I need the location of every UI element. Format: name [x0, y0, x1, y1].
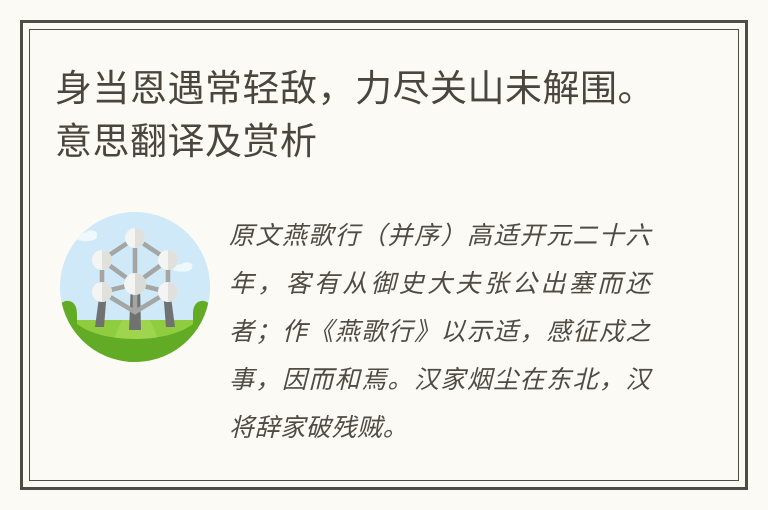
article-thumbnail[interactable]: [60, 212, 210, 362]
atomium-illustration-svg: [60, 212, 210, 362]
page-title: 身当恩遇常轻敌，力尽关山未解围。意思翻译及赏析: [55, 62, 655, 168]
page-root: 身当恩遇常轻敌，力尽关山未解围。意思翻译及赏析: [0, 0, 768, 510]
article-content-row: 原文燕歌行（并序）高适开元二十六年，客有从御史大夫张公出塞而还者；作《燕歌行》以…: [0, 205, 768, 465]
atomium-monument-icon: [60, 212, 210, 362]
article-body-text: 原文燕歌行（并序）高适开元二十六年，客有从御史大夫张公出塞而还者；作《燕歌行》以…: [229, 212, 651, 452]
